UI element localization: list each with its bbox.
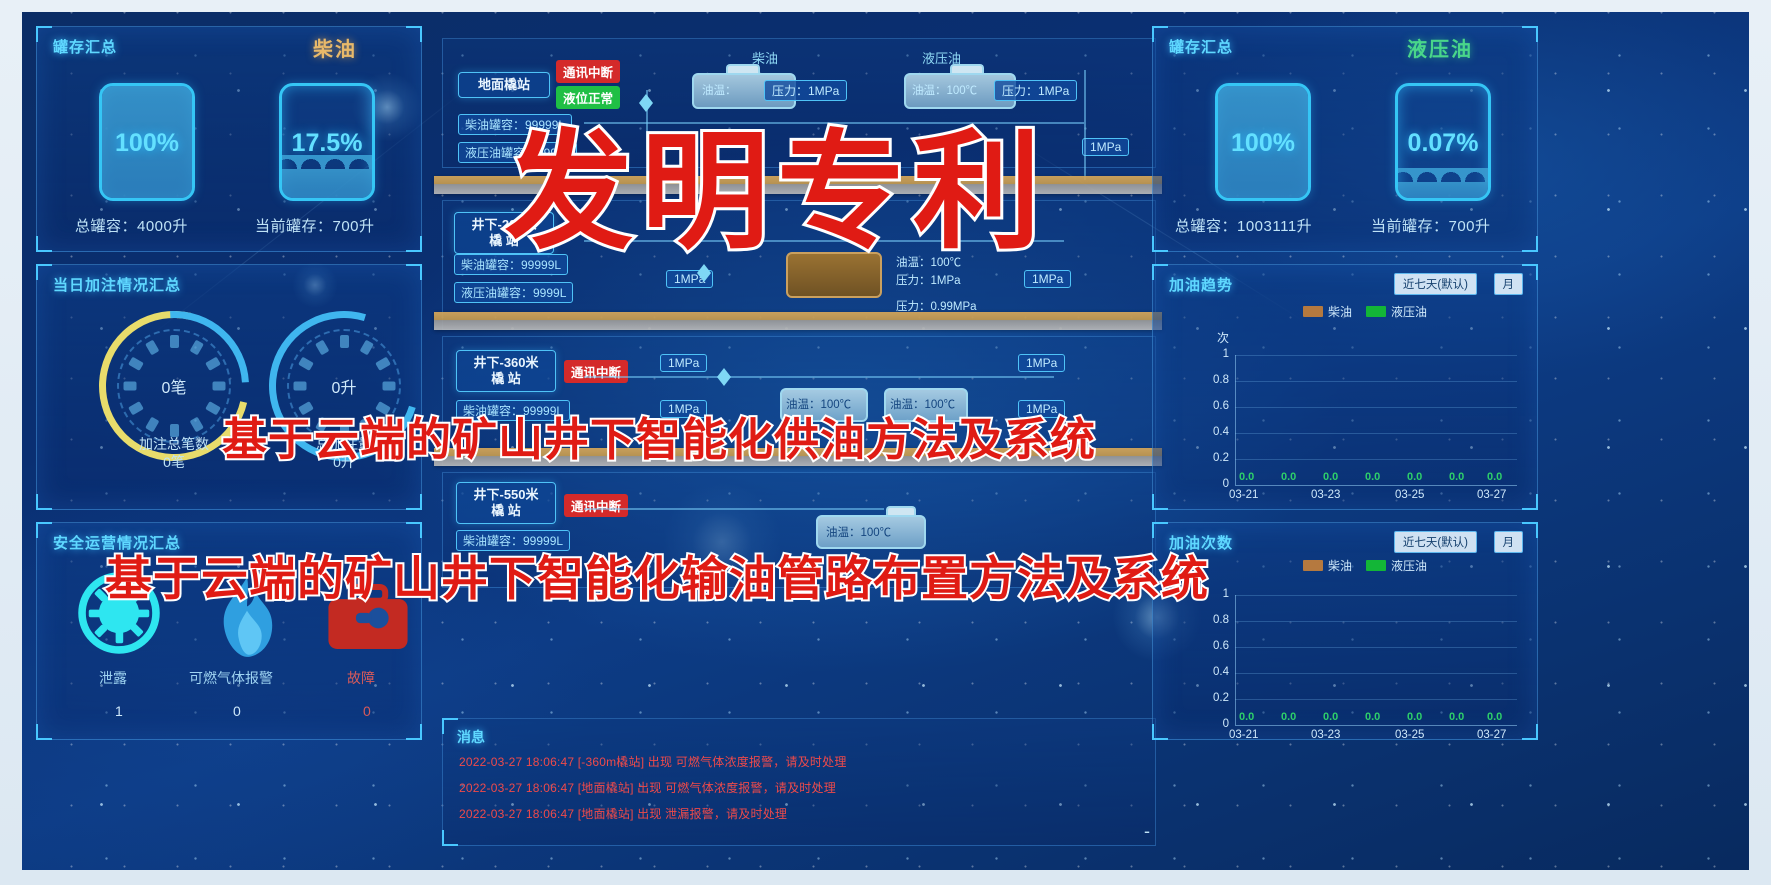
tank-percent-total: 100%: [102, 129, 192, 158]
oil-type-label-diesel: 柴油: [313, 33, 357, 62]
legend-label-diesel: 柴油: [1328, 305, 1352, 319]
chart-point-label: 0.0: [1323, 471, 1338, 483]
panel-tank-summary-diesel: 罐存汇总 柴油 100% 总罐容：4000升 17.5% 当前罐存：700升: [36, 26, 422, 252]
watermark-invention-patent: 发明专利: [505, 88, 1049, 273]
chart-point-label: 0.0: [1365, 711, 1380, 723]
corner-decoration: [1152, 494, 1168, 510]
chart-point-label: 0.0: [1487, 471, 1502, 483]
tank-wave-decoration: [1395, 168, 1491, 182]
pressure-tag-360-b: 1MPa: [1018, 354, 1065, 372]
corner-decoration: [1522, 264, 1538, 280]
panel-refuel-count-chart: 加油次数 近七天(默认) 月 柴油 液压油 1 0.8 0.6 0.4 0.2 …: [1152, 522, 1538, 740]
tank-percent-current: 0.07%: [1398, 129, 1488, 158]
panel-title-tank-summary: 罐存汇总: [1169, 36, 1233, 57]
corner-decoration: [1152, 236, 1168, 252]
chart-y-tick: 0.2: [1203, 692, 1229, 704]
chart-point-label: 0.0: [1365, 471, 1380, 483]
legend-swatch-hydraulic: [1366, 306, 1386, 317]
chart-x-tick: 03-27: [1477, 729, 1506, 741]
station-label-line1: 井下-360米: [473, 355, 538, 370]
legend-item-diesel: 柴油: [1303, 557, 1352, 574]
legend-label-hydraulic: 液压油: [1391, 559, 1427, 573]
corner-decoration: [36, 26, 52, 42]
readout-pressure-200: 压力：1MPa: [896, 272, 961, 288]
chart-point-label: 0.0: [1323, 711, 1338, 723]
panel-title-daily-refuel: 当日加注情况汇总: [53, 274, 181, 295]
legend-swatch-diesel: [1303, 560, 1323, 571]
station-level-550[interactable]: 井下-550米 橇 站: [456, 482, 556, 524]
messages-title: 消息: [457, 727, 485, 747]
badge-comm-interrupted-ground: 通讯中断: [556, 60, 620, 83]
watermark-patent-title-2: 基于云端的矿山井下智能化输油管路布置方法及系统: [105, 540, 1209, 609]
legend-label-hydraulic: 液压油: [1391, 305, 1427, 319]
range-select-seven-days-top[interactable]: 近七天(默认): [1394, 273, 1477, 295]
tank-current-stock-label: 当前罐存：700升: [1371, 215, 1491, 236]
chart-y-tick: 0.4: [1203, 426, 1229, 438]
pipe-line: [1084, 70, 1086, 180]
corner-decoration: [36, 522, 52, 538]
tank-fill: [282, 169, 372, 198]
chart-y-tick: 0.6: [1203, 400, 1229, 412]
chart-gridline: [1235, 621, 1517, 622]
chart-x-tick: 03-25: [1395, 489, 1424, 501]
pressure-tag-360-a: 1MPa: [660, 354, 707, 372]
range-select-month-top[interactable]: 月: [1494, 273, 1524, 295]
minimize-button[interactable]: -: [1144, 826, 1150, 836]
chart-x-tick: 03-21: [1229, 489, 1258, 501]
tank-current-stock-label: 当前罐存：700升: [255, 215, 375, 236]
chart-plot-area-bottom: 1 0.8 0.6 0.4 0.2 0 0.0 0.0 0.0 0.0 0.0 …: [1173, 581, 1525, 737]
chart-point-label: 0.0: [1449, 471, 1464, 483]
chart-x-axis: [1235, 725, 1517, 726]
corner-decoration: [1152, 724, 1168, 740]
messages-panel: 消息 2022-03-27 18:06:47 [-360m橇站] 出现 可燃气体…: [442, 718, 1156, 846]
chart-x-tick: 03-25: [1395, 729, 1424, 741]
strata-layer-decoration: [434, 312, 1162, 330]
safety-item-value-gas-alarm: 0: [233, 703, 241, 719]
corner-decoration: [442, 718, 458, 734]
chart-x-tick: 03-27: [1477, 489, 1506, 501]
gauge-label-line1: 加注总笔数: [139, 436, 209, 452]
panel-title-refuel-trend: 加油趋势: [1169, 274, 1233, 295]
station-label-line2: 橇 站: [491, 371, 521, 386]
message-line: 2022-03-27 18:06:47 [地面橇站] 出现 可燃气体浓度报警，请…: [459, 779, 836, 796]
chart-point-label: 0.0: [1407, 471, 1422, 483]
chart-y-tick: 0.2: [1203, 452, 1229, 464]
chart-x-tick: 03-23: [1311, 489, 1340, 501]
tank-gauge-total: 100%: [1215, 83, 1311, 201]
chart-y-tick: 0.6: [1203, 640, 1229, 652]
corner-decoration: [406, 724, 422, 740]
tag-hydraulic-capacity-200: 液压油罐容：9999L: [454, 282, 573, 303]
chart-x-axis: [1235, 485, 1517, 486]
corner-decoration: [1522, 236, 1538, 252]
range-select-month-bottom[interactable]: 月: [1494, 531, 1524, 553]
panel-title-tank-summary: 罐存汇总: [53, 36, 117, 57]
corner-decoration: [36, 264, 52, 280]
oil-type-label-hydraulic: 液压油: [1407, 33, 1473, 62]
corner-decoration: [1152, 522, 1168, 538]
chart-point-label: 0.0: [1487, 711, 1502, 723]
tank-percent-total: 100%: [1218, 129, 1308, 158]
tank-fill: [1398, 182, 1488, 198]
chart-y-axis: [1235, 595, 1236, 725]
range-select-seven-days-bottom[interactable]: 近七天(默认): [1394, 531, 1477, 553]
corner-decoration: [1522, 522, 1538, 538]
chart-gridline: [1235, 355, 1517, 356]
corner-decoration: [442, 830, 458, 846]
chart-gridline: [1235, 381, 1517, 382]
chart-y-tick: 0.8: [1203, 614, 1229, 626]
corner-decoration: [406, 26, 422, 42]
chart-gridline: [1235, 699, 1517, 700]
chart-x-tick: 03-23: [1311, 729, 1340, 741]
corner-decoration: [406, 264, 422, 280]
chart-x-tick: 03-21: [1229, 729, 1258, 741]
tank-lid-decoration: [950, 64, 984, 73]
legend-swatch-diesel: [1303, 306, 1323, 317]
station-level-360[interactable]: 井下-360米 橇 站: [456, 350, 556, 392]
badge-comm-interrupted-550: 通讯中断: [564, 494, 628, 517]
safety-item-value-leak: 1: [115, 703, 123, 719]
legend-item-hydraulic: 液压油: [1366, 557, 1427, 574]
gauge-label-line2: 0笔: [163, 454, 185, 470]
chart-point-label: 0.0: [1281, 711, 1296, 723]
panel-daily-refuel-summary: 当日加注情况汇总 0笔 加注总笔数 0笔: [36, 264, 422, 510]
corner-decoration: [406, 494, 422, 510]
chart-y-tick: 0: [1203, 718, 1229, 730]
tank-gauge-current: 17.5%: [279, 83, 375, 201]
corner-decoration: [406, 236, 422, 252]
station-label-line2: 橇 站: [491, 503, 521, 518]
legend-item-hydraulic: 液压油: [1366, 303, 1427, 320]
dashboard-screenshot: 罐存汇总 柴油 100% 总罐容：4000升 17.5% 当前罐存：700升 当…: [0, 0, 1771, 885]
panel-tank-summary-hydraulic: 罐存汇总 液压油 100% 总罐容：1003111升 0.07% 当前罐存：70…: [1152, 26, 1538, 252]
legend-swatch-hydraulic: [1366, 560, 1386, 571]
chart-gridline: [1235, 647, 1517, 648]
tank-lid-decoration: [886, 506, 916, 515]
tank-total-capacity-label: 总罐容：1003111升: [1175, 215, 1312, 236]
safety-item-label-fault: 故障: [347, 668, 375, 688]
badge-comm-interrupted-360: 通讯中断: [564, 360, 628, 383]
chart-y-axis: [1235, 355, 1236, 485]
chart-y-tick: 0.8: [1203, 374, 1229, 386]
corner-decoration: [36, 494, 52, 510]
tank-gauge-current: 0.07%: [1395, 83, 1491, 201]
message-line: 2022-03-27 18:06:47 [-360m橇站] 出现 可燃气体浓度报…: [459, 753, 847, 770]
chart-point-label: 0.0: [1449, 711, 1464, 723]
station-label-line1: 井下-550米: [473, 487, 538, 502]
chart-gridline: [1235, 459, 1517, 460]
chart-gridline: [1235, 673, 1517, 674]
watermark-patent-title-1: 基于云端的矿山井下智能化供油方法及系统: [222, 403, 1096, 468]
panel-refuel-trend-chart: 加油趋势 近七天(默认) 月 柴油 液压油 次 1 0.8 0.6 0.4 0.…: [1152, 264, 1538, 510]
tank-percent-current: 17.5%: [282, 129, 372, 158]
chart-point-label: 0.0: [1281, 471, 1296, 483]
corner-decoration: [36, 724, 52, 740]
chart-y-tick: 1: [1203, 348, 1229, 360]
tank-gauge-total: 100%: [99, 83, 195, 201]
chart-point-label: 0.0: [1239, 471, 1254, 483]
chart-point-label: 0.0: [1239, 711, 1254, 723]
pipe-line: [584, 376, 1054, 378]
corner-decoration: [1152, 264, 1168, 280]
safety-item-label-leak: 泄露: [99, 668, 127, 688]
readout-oil-temp-550: 油温：100℃: [826, 524, 891, 540]
corner-decoration: [36, 236, 52, 252]
corner-decoration: [1152, 26, 1168, 42]
corner-decoration: [1522, 26, 1538, 42]
chart-y-tick: 0: [1203, 478, 1229, 490]
chart-legend-top: 柴油 液压油: [1303, 303, 1427, 320]
pressure-tag-ground-far-right: 1MPa: [1082, 138, 1129, 156]
chart-point-label: 0.0: [1407, 711, 1422, 723]
pipe-line: [584, 508, 884, 510]
safety-item-value-fault: 0: [363, 703, 371, 719]
chart-y-unit-top: 次: [1217, 329, 1229, 346]
chart-plot-area-top: 次 1 0.8 0.6 0.4 0.2 0 0.0 0.0 0.0 0.0 0.…: [1173, 329, 1525, 501]
chart-gridline: [1235, 433, 1517, 434]
chart-gridline: [1235, 407, 1517, 408]
tank-total-capacity-label: 总罐容：4000升: [75, 215, 188, 236]
chart-gridline: [1235, 595, 1517, 596]
chart-y-tick: 0.4: [1203, 666, 1229, 678]
chart-legend-bottom: 柴油 液压油: [1303, 557, 1427, 574]
message-line: 2022-03-27 18:06:47 [地面橇站] 出现 泄漏报警，请及时处理: [459, 805, 787, 822]
legend-item-diesel: 柴油: [1303, 303, 1352, 320]
legend-label-diesel: 柴油: [1328, 559, 1352, 573]
tank-lid-decoration: [726, 64, 760, 73]
safety-item-label-gas-alarm: 可燃气体报警: [189, 668, 273, 688]
corner-decoration: [406, 522, 422, 538]
